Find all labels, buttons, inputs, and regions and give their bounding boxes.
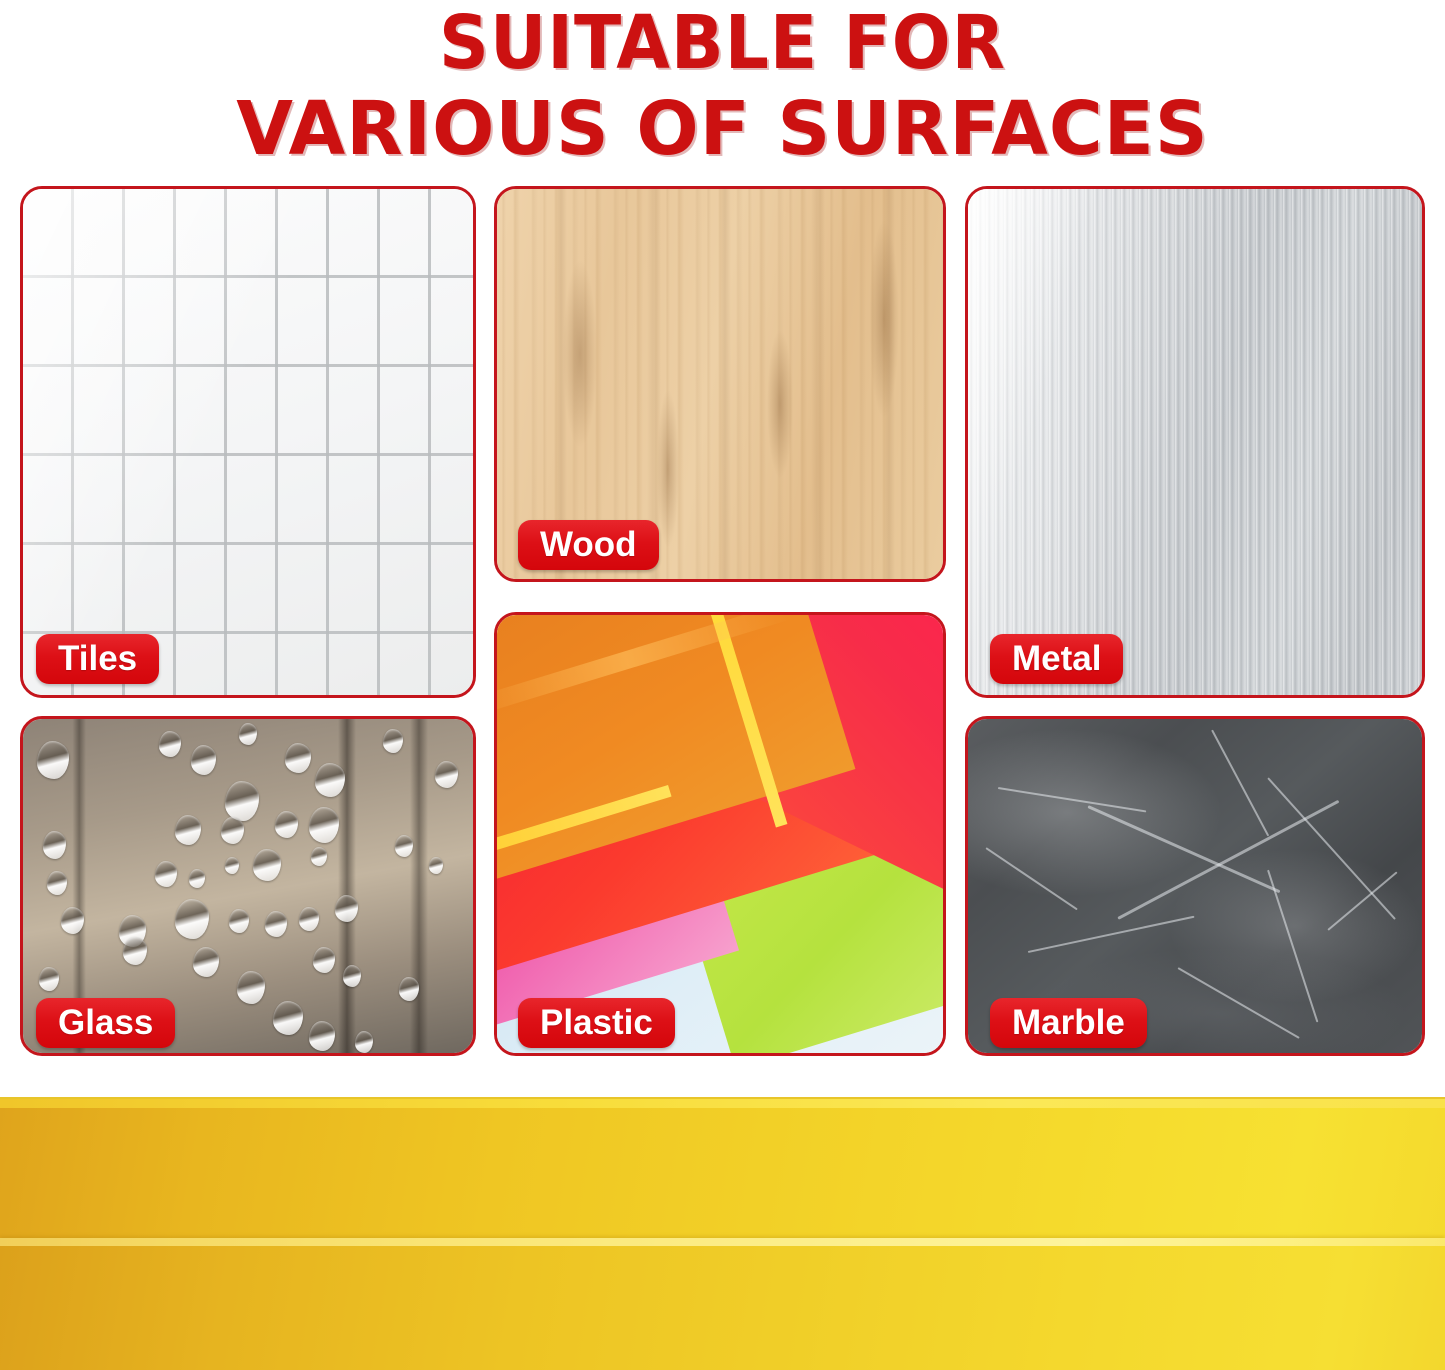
surface-label-metal: Metal xyxy=(990,634,1123,684)
metal-sheen-overlay xyxy=(968,189,1422,695)
squeegee-blade-lower-face xyxy=(0,1246,1445,1370)
squeegee-blade-bar xyxy=(0,1097,1445,1370)
wood-grain-figure-1 xyxy=(767,329,793,479)
wood-grain-figure-3 xyxy=(869,219,899,419)
surface-label-glass: Glass xyxy=(36,998,175,1048)
surface-card-metal xyxy=(965,186,1425,698)
wood-grain-figure-4 xyxy=(657,389,679,549)
surface-card-tiles xyxy=(20,186,476,698)
squeegee-blade-top-edge xyxy=(0,1097,1445,1108)
page-title: SUITABLE FOR VARIOUS OF SURFACES xyxy=(0,0,1445,170)
surface-label-wood: Wood xyxy=(518,520,659,570)
squeegee-blade-seam xyxy=(0,1238,1445,1246)
surface-label-marble: Marble xyxy=(990,998,1147,1048)
tiles-texture xyxy=(23,189,473,695)
wood-grain-figure-2 xyxy=(563,259,597,449)
surface-label-tiles: Tiles xyxy=(36,634,159,684)
water-droplet xyxy=(225,857,239,874)
surface-label-plastic: Plastic xyxy=(518,998,675,1048)
title-line-1: SUITABLE FOR xyxy=(0,0,1445,80)
water-droplet xyxy=(429,857,443,874)
surface-card-plastic xyxy=(494,612,946,1056)
title-line-2: VARIOUS OF SURFACES xyxy=(0,80,1445,166)
